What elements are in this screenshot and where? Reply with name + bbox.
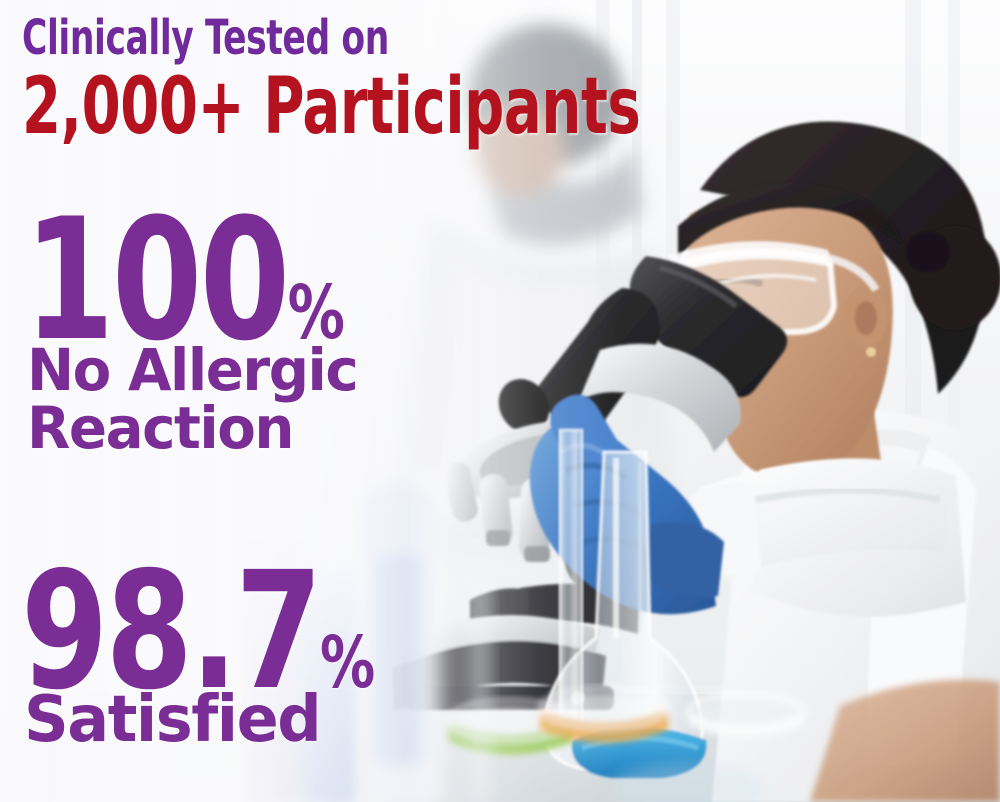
headline-line-1: Clinically Tested on [22,14,389,62]
stat-label-no-allergic-line1: No Allergic [27,341,357,399]
headline-line-2: 2,000+ Participants [22,68,640,146]
percent-sign: % [320,627,374,698]
stats-overlay: Clinically Tested on 2,000+ Participants… [0,0,1000,802]
stat-label-no-allergic-line2: Reaction [27,399,293,457]
stat-label-satisfied: Satisfied [24,688,320,752]
clinical-results-banner: Clinically Tested on 2,000+ Participants… [0,0,1000,802]
